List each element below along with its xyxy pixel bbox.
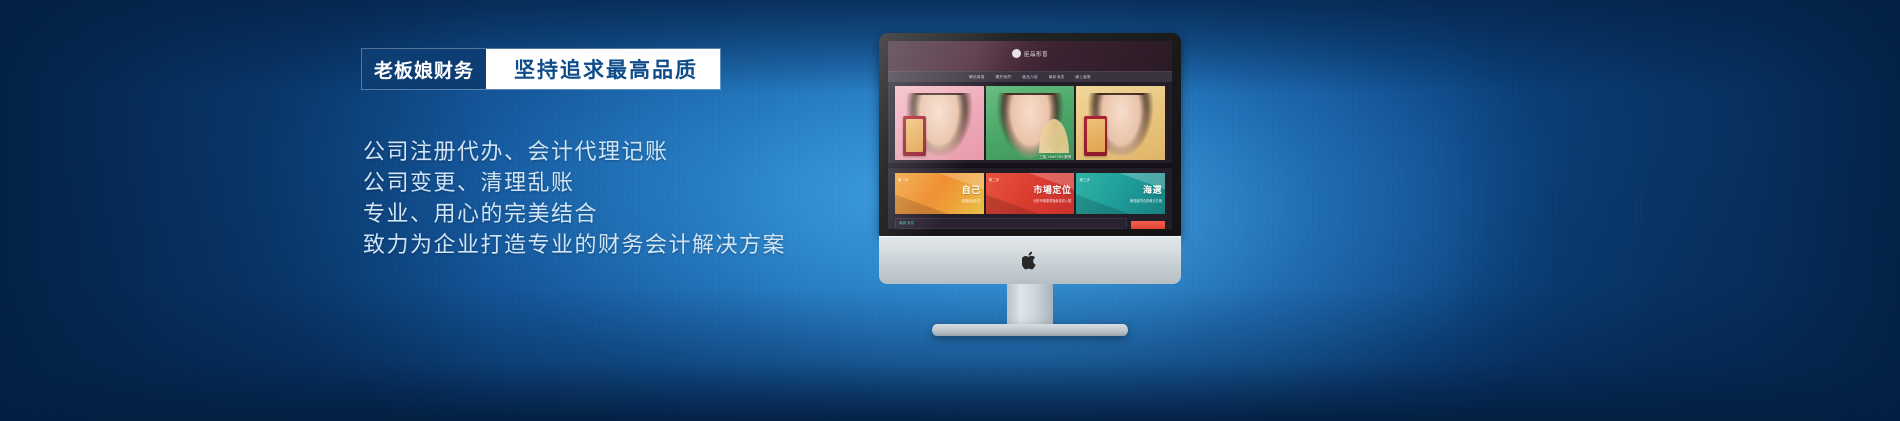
card-title: 市場定位 — [989, 183, 1072, 196]
apple-logo-icon — [1022, 251, 1038, 270]
slide-item — [895, 86, 984, 160]
slide-item — [1076, 86, 1165, 160]
monitor-base — [932, 324, 1128, 336]
site-cards: 第一步 自己 認識自我定位 第二步 市場定位 分析市場需求與最佳切入點 — [888, 168, 1172, 214]
news-title: 最新消息 — [899, 221, 1123, 226]
site-logo-text: 臣品形盲 — [1024, 50, 1048, 58]
monitor-screen: 臣品形盲 網站首頁 關於我們 產品介紹 最新消息 線上客服 — [888, 41, 1172, 229]
site-hero: 臣品形盲 — [888, 41, 1172, 71]
monitor-chin — [879, 236, 1181, 284]
news-box: 最新消息 公司最新動態與產業資訊同步更新 — [895, 218, 1127, 229]
site-card[interactable]: 第三步 海選 篩選最符合的執行方案 — [1076, 173, 1165, 214]
site-slideshow: 三星 chat ON 案例 — [888, 82, 1172, 160]
card-kicker: 第三步 — [1079, 177, 1162, 182]
imac-mockup: 臣品形盲 網站首頁 關於我們 產品介紹 最新消息 線上客服 — [879, 33, 1181, 336]
phone-prop-icon — [1084, 116, 1107, 156]
site-nav-item-4[interactable]: 線上客服 — [1075, 75, 1091, 80]
banner-line-2: 公司变更、清理乱账 — [363, 169, 786, 199]
card-kicker: 第一步 — [898, 177, 981, 182]
website-mockup: 臣品形盲 網站首頁 關於我們 產品介紹 最新消息 線上客服 — [888, 41, 1172, 229]
site-logo: 臣品形盲 — [1012, 49, 1048, 58]
site-nav-item-1[interactable]: 關於我們 — [996, 75, 1012, 80]
banner-line-3: 专业、用心的完美结合 — [363, 200, 786, 230]
banner-line-4: 致力为企业打造专业的财务会计解决方案 — [363, 231, 786, 261]
site-cta-button[interactable] — [1131, 221, 1165, 229]
banner-text-lines: 公司注册代办、会计代理记账 公司变更、清理乱账 专业、用心的完美结合 致力为企业… — [363, 138, 786, 262]
card-kicker: 第二步 — [989, 177, 1072, 182]
hero-banner: 老板娘财务 坚持追求最高品质 公司注册代办、会计代理记账 公司变更、清理乱账 专… — [0, 0, 1900, 421]
headline-bar: 老板娘财务 坚持追求最高品质 — [362, 49, 720, 89]
phone-prop-icon — [903, 116, 926, 156]
card-title: 自己 — [898, 183, 981, 196]
site-nav-item-0[interactable]: 網站首頁 — [969, 75, 985, 80]
card-sub: 篩選最符合的執行方案 — [1079, 198, 1162, 203]
site-nav: 網站首頁 關於我們 產品介紹 最新消息 線上客服 — [888, 71, 1172, 82]
news-divider — [899, 228, 1123, 229]
slide-item: 三星 chat ON 案例 — [986, 86, 1075, 160]
site-footer: 最新消息 公司最新動態與產業資訊同步更新 — [888, 214, 1172, 229]
site-logo-mark-icon — [1012, 49, 1021, 58]
monitor-bezel: 臣品形盲 網站首頁 關於我們 產品介紹 最新消息 線上客服 — [879, 33, 1181, 236]
card-title: 海選 — [1079, 183, 1162, 196]
brand-label: 老板娘财务 — [362, 49, 486, 89]
slide-caption: 三星 chat ON 案例 — [1039, 154, 1071, 159]
slogan-label: 坚持追求最高品质 — [486, 49, 720, 89]
monitor-neck — [1007, 284, 1053, 324]
site-nav-item-3[interactable]: 最新消息 — [1049, 75, 1065, 80]
banner-line-1: 公司注册代办、会计代理记账 — [363, 138, 786, 168]
site-nav-item-2[interactable]: 產品介紹 — [1022, 75, 1038, 80]
card-sub: 分析市場需求與最佳切入點 — [989, 198, 1072, 203]
site-card[interactable]: 第二步 市場定位 分析市場需求與最佳切入點 — [986, 173, 1075, 214]
site-card[interactable]: 第一步 自己 認識自我定位 — [895, 173, 984, 214]
card-sub: 認識自我定位 — [898, 198, 981, 203]
